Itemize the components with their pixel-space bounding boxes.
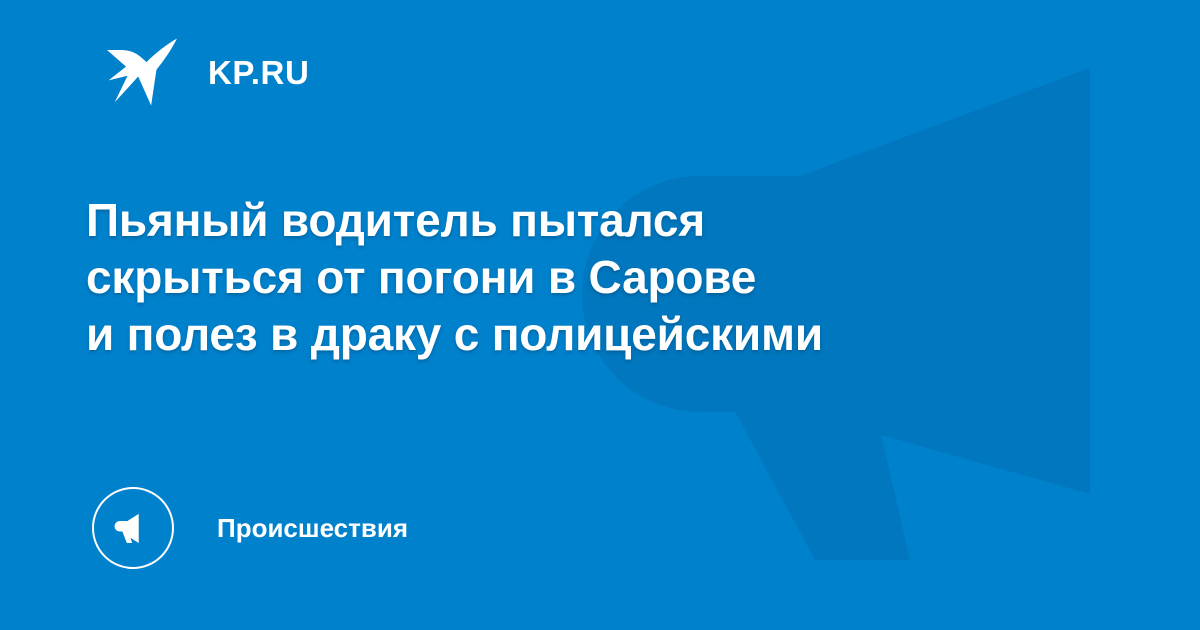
category-label: Происшествия [217,515,408,541]
megaphone-icon [111,506,155,550]
page-title: Пьяный водитель пытался скрыться от пого… [86,192,1086,363]
headline-line-2: скрыться от погони в Сарове [86,249,1086,306]
share-card: KP.RU Пьяный водитель пытался скрыться о… [0,0,1200,630]
headline-line-1: Пьяный водитель пытался [86,192,1086,249]
brand-logo[interactable]: KP.RU [104,36,309,108]
swallow-bird-icon [104,34,180,110]
category-badge[interactable]: Происшествия [92,486,408,570]
headline-line-3: и полез в драку с полицейскими [86,306,1086,363]
brand-wordmark: KP.RU [208,56,309,89]
category-icon-circle [92,487,174,569]
